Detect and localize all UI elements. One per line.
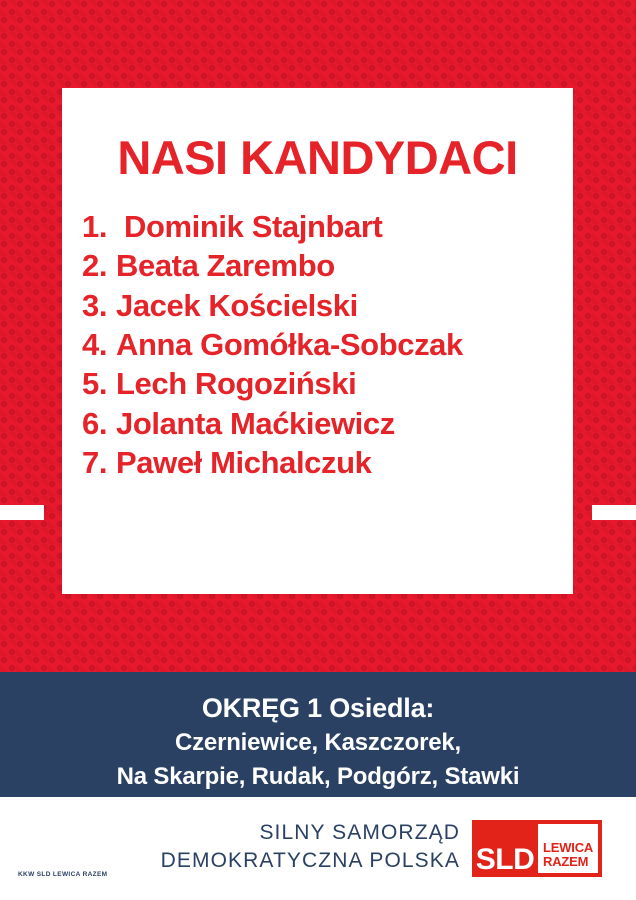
candidate-name: Jacek Kościelski bbox=[108, 286, 358, 325]
candidate-name: Dominik Stajnbart bbox=[108, 207, 382, 246]
logo-sld-mark: SLD bbox=[472, 820, 538, 877]
left-edge-notch bbox=[0, 505, 44, 520]
candidate-list: 1. Dominik Stajnbart 2. Beata Zarembo 3.… bbox=[62, 181, 573, 483]
candidate-name: Jolanta Maćkiewicz bbox=[108, 404, 395, 443]
candidate-name: Paweł Michalczuk bbox=[108, 443, 371, 482]
district-heading: OKRĘG 1 Osiedla: bbox=[0, 672, 636, 724]
slogan-line-1: SILNY SAMORZĄD bbox=[0, 819, 460, 847]
candidate-name: Beata Zarembo bbox=[108, 246, 335, 285]
list-item: 3. Jacek Kościelski bbox=[82, 286, 573, 325]
page-title: NASI KANDYDACI bbox=[62, 88, 573, 181]
candidate-number: 2. bbox=[82, 246, 108, 285]
list-item: 6. Jolanta Maćkiewicz bbox=[82, 404, 573, 443]
candidate-number: 1. bbox=[82, 207, 108, 246]
sld-lewica-razem-logo: SLD LEWICA RAZEM bbox=[472, 820, 602, 877]
list-item: 7. Paweł Michalczuk bbox=[82, 443, 573, 482]
candidate-name: Anna Gomółka-Sobczak bbox=[108, 325, 463, 364]
right-edge-notch bbox=[592, 505, 636, 520]
committee-note: KKW SLD LEWICA RAZEM bbox=[18, 871, 107, 878]
candidate-number: 3. bbox=[82, 286, 108, 325]
list-item: 2. Beata Zarembo bbox=[82, 246, 573, 285]
list-item: 1. Dominik Stajnbart bbox=[82, 207, 573, 246]
candidate-name: Lech Rogoziński bbox=[108, 364, 356, 403]
logo-sld-text: SLD bbox=[476, 845, 535, 875]
district-neighbourhoods-line-1: Czerniewice, Kaszczorek, bbox=[0, 724, 636, 758]
candidates-card: NASI KANDYDACI 1. Dominik Stajnbart 2. B… bbox=[62, 88, 573, 594]
list-item: 5. Lech Rogoziński bbox=[82, 364, 573, 403]
logo-tagline-line-1: LEWICA bbox=[543, 841, 593, 855]
logo-tagline-panel: LEWICA RAZEM bbox=[538, 824, 598, 873]
list-item: 4. Anna Gomółka-Sobczak bbox=[82, 325, 573, 364]
candidate-number: 5. bbox=[82, 364, 108, 403]
candidate-number: 4. bbox=[82, 325, 108, 364]
district-neighbourhoods-line-2: Na Skarpie, Rudak, Podgórz, Stawki bbox=[0, 758, 636, 792]
slogan-block: SILNY SAMORZĄD DEMOKRATYCZNA POLSKA bbox=[0, 819, 460, 876]
district-banner: OKRĘG 1 Osiedla: Czerniewice, Kaszczorek… bbox=[0, 672, 636, 797]
candidate-number: 7. bbox=[82, 443, 108, 482]
campaign-poster: NASI KANDYDACI 1. Dominik Stajnbart 2. B… bbox=[0, 0, 636, 900]
candidate-number: 6. bbox=[82, 404, 108, 443]
logo-tagline-line-2: RAZEM bbox=[543, 855, 588, 869]
